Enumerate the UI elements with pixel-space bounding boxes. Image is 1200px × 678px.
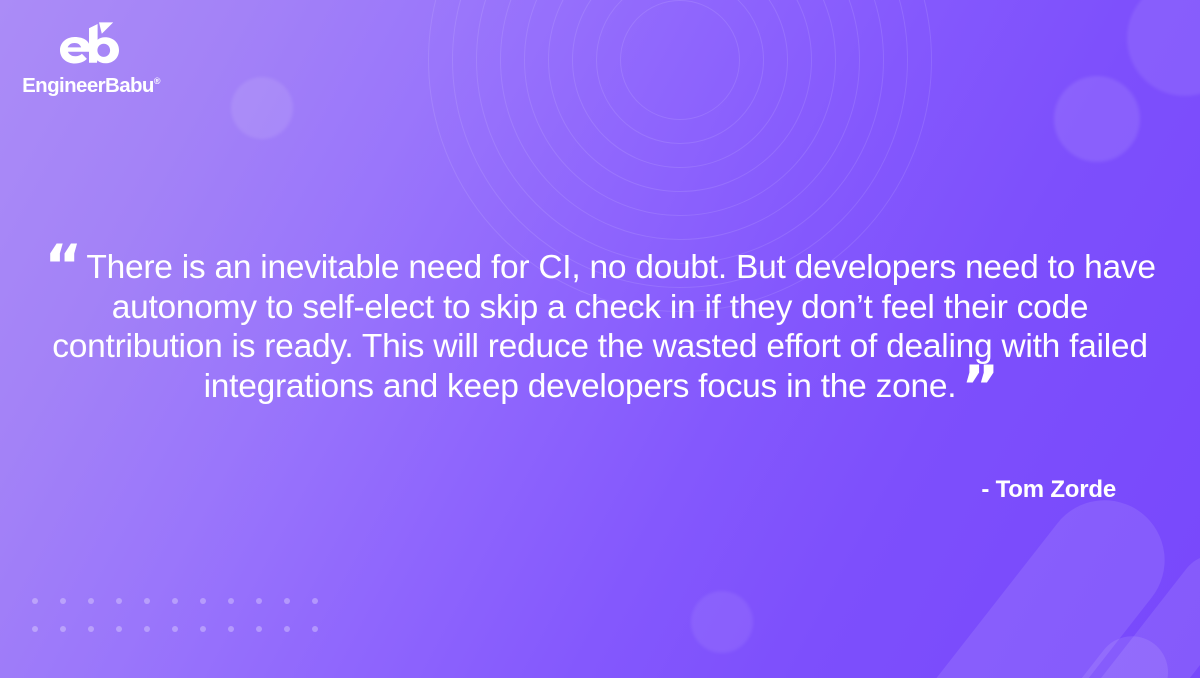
grid-dot bbox=[228, 626, 234, 632]
grid-dot bbox=[312, 626, 318, 632]
grid-dot bbox=[284, 598, 290, 604]
grid-dot bbox=[88, 626, 94, 632]
grid-dot bbox=[32, 626, 38, 632]
grid-dot bbox=[228, 598, 234, 604]
decorative-circle-bottom-center bbox=[691, 591, 753, 653]
grid-dot bbox=[256, 626, 262, 632]
grid-dot bbox=[172, 598, 178, 604]
grid-dot bbox=[116, 598, 122, 604]
brand-wordmark-text: EngineerBabu bbox=[22, 74, 154, 97]
trademark-symbol: ® bbox=[154, 76, 160, 86]
brand-wordmark: EngineerBabu® bbox=[16, 76, 166, 97]
grid-dot bbox=[312, 598, 318, 604]
grid-dot bbox=[172, 626, 178, 632]
decorative-circle-top-right-b bbox=[1127, 0, 1200, 96]
grid-dot bbox=[88, 598, 94, 604]
capsule-shape bbox=[1067, 541, 1200, 678]
grid-dot bbox=[144, 598, 150, 604]
grid-dot bbox=[200, 626, 206, 632]
grid-dot bbox=[116, 626, 122, 632]
grid-dot bbox=[144, 626, 150, 632]
grid-dot bbox=[256, 598, 262, 604]
decorative-dot-grid bbox=[32, 598, 340, 654]
grid-dot bbox=[200, 598, 206, 604]
quote-card: EngineerBabu® “There is an inevitable ne… bbox=[0, 0, 1200, 678]
capsule-shape bbox=[891, 476, 1189, 678]
decorative-circle-top-left bbox=[231, 77, 293, 139]
grid-dot bbox=[284, 626, 290, 632]
quote-block: “There is an inevitable need for CI, no … bbox=[0, 248, 1200, 406]
grid-dot bbox=[60, 626, 66, 632]
concentric-rings-icon bbox=[470, 0, 890, 270]
decorative-circle-top-right-a bbox=[1054, 76, 1140, 162]
brand-logo[interactable]: EngineerBabu® bbox=[16, 22, 166, 97]
grid-dot bbox=[32, 598, 38, 604]
quote-author: - Tom Zorde bbox=[981, 476, 1116, 504]
quote-text-container: “There is an inevitable need for CI, no … bbox=[36, 248, 1164, 406]
capsule-shape bbox=[1033, 622, 1182, 678]
engineerbabu-eb-monogram-icon bbox=[56, 22, 132, 70]
grid-dot bbox=[60, 598, 66, 604]
